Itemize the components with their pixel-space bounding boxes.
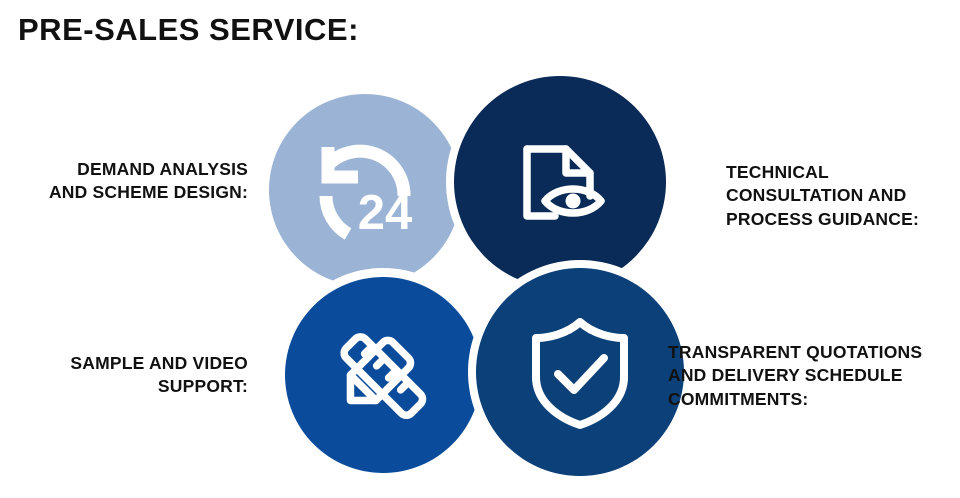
circle-bg-medium-blue: [285, 277, 481, 473]
circle-bg-navy: [454, 76, 666, 288]
label-transparent-quotations: TRANSPARENT QUOTATIONS AND DELIVERY SCHE…: [668, 341, 960, 411]
circle-technical-consultation[interactable]: [454, 76, 666, 288]
label-technical-consultation: TECHNICAL CONSULTATION AND PROCESS GUIDA…: [726, 161, 952, 231]
circle-cluster: 24: [0, 0, 960, 498]
icon-text-24: 24: [358, 186, 413, 240]
circle-bg-dark-blue: [476, 268, 684, 476]
label-sample-video-support: SAMPLE AND VIDEO SUPPORT:: [0, 352, 248, 399]
circle-transparent-quotations[interactable]: [476, 268, 684, 476]
circle-sample-video-support[interactable]: [285, 277, 481, 473]
circle-demand-analysis[interactable]: 24: [269, 94, 461, 286]
label-demand-analysis: DEMAND ANALYSIS AND SCHEME DESIGN:: [0, 158, 248, 205]
infographic-page: PRE-SALES SERVICE:: [0, 0, 960, 498]
